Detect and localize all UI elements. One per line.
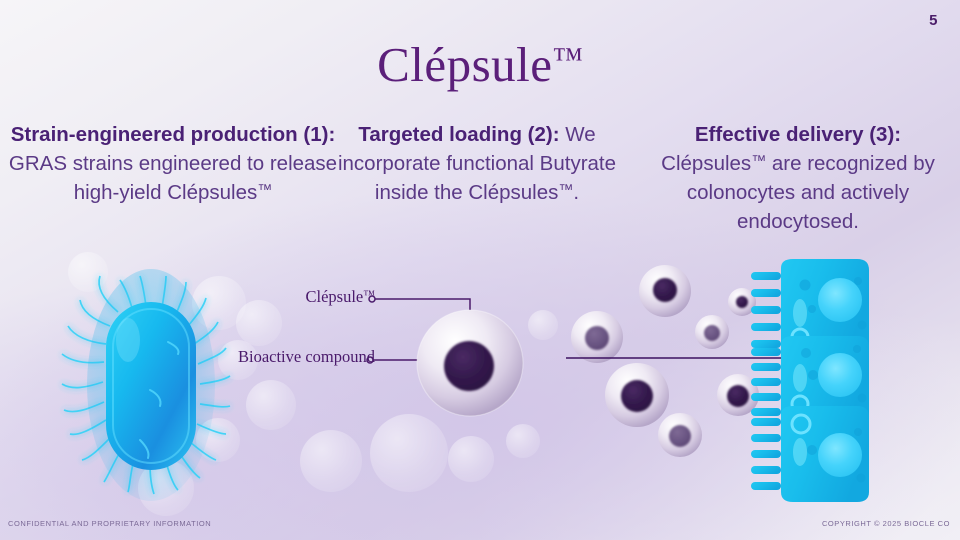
cell-vacuole xyxy=(793,364,807,392)
bioactive-core xyxy=(653,278,677,302)
cell-granule xyxy=(800,280,811,291)
callout-label-clepsule: Clépsule™ xyxy=(225,287,375,307)
footer-copyright: COPYRIGHT © 2025 BIOCLE CO xyxy=(822,519,950,528)
bioactive-core xyxy=(621,380,653,412)
clepsule-sphere xyxy=(639,265,691,317)
diagram-artwork xyxy=(0,0,960,540)
cell-granule xyxy=(857,474,866,483)
cell-nucleus xyxy=(818,433,862,477)
cell-granule xyxy=(801,348,811,358)
slide-canvas: 5 Clépsule™ Strain-engineered production… xyxy=(0,0,960,540)
bioactive-core xyxy=(669,425,691,447)
cell-granule xyxy=(853,345,861,353)
floating-clepsules xyxy=(571,265,759,457)
bacterium-highlight xyxy=(116,318,140,362)
bioactive-core xyxy=(727,385,749,407)
cell-nucleus xyxy=(818,353,862,397)
cell-vacuole xyxy=(793,438,807,466)
cell-granule xyxy=(858,394,867,403)
cell-nucleus xyxy=(818,278,862,322)
bioactive-core xyxy=(585,326,609,350)
clepsule-sphere xyxy=(417,310,523,416)
callout-label-bioactive: Bioactive compound xyxy=(225,347,375,367)
clepsule-sphere xyxy=(695,315,729,349)
engineered-bacterium xyxy=(62,269,230,501)
footer-confidential: CONFIDENTIAL AND PROPRIETARY INFORMATION xyxy=(8,519,211,528)
clepsule-sphere xyxy=(605,363,669,427)
clepsule-sphere xyxy=(658,413,702,457)
colonocyte-epithelium xyxy=(751,259,869,502)
clepsule-sphere xyxy=(571,311,623,363)
cell-granule xyxy=(854,277,862,285)
microvilli xyxy=(751,272,781,348)
cell-granule xyxy=(858,321,867,330)
callout-clepsule-text: Clépsule xyxy=(305,287,363,306)
bioactive-core xyxy=(736,296,748,308)
cell-granule xyxy=(808,305,816,313)
bioactive-core xyxy=(444,341,494,391)
bioactive-core xyxy=(704,325,720,341)
cell-vacuole xyxy=(793,299,807,327)
cell-granule xyxy=(807,445,817,455)
callout-clepsule-trademark: ™ xyxy=(363,287,375,301)
colonocyte-cell xyxy=(751,406,869,502)
microvilli xyxy=(751,418,781,490)
cell-granule xyxy=(854,428,862,436)
cell-granule xyxy=(808,370,818,380)
